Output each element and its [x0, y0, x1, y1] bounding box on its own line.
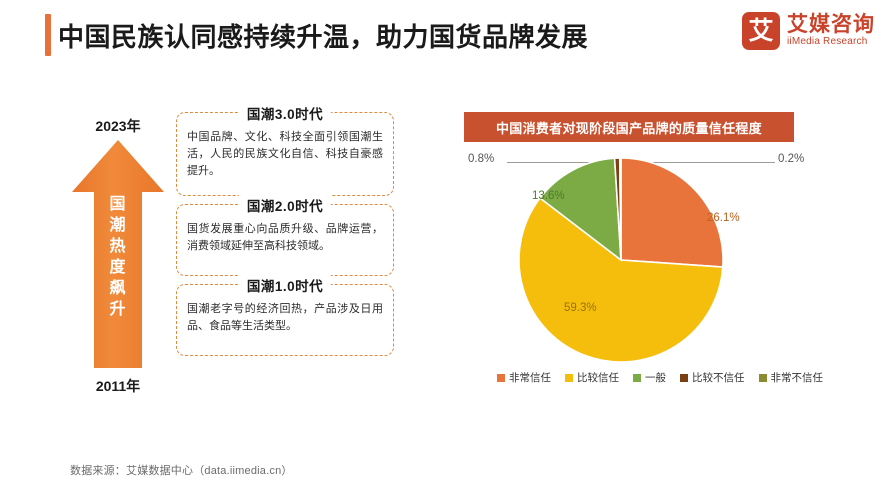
arrow-char-0: 国 — [62, 194, 174, 215]
era-box-1: 国潮1.0时代 国潮老字号的经济回热，产品涉及日用品、食品等生活类型。 — [176, 284, 394, 356]
arrow-char-3: 度 — [62, 257, 174, 278]
chart-title: 中国消费者对现阶段国产品牌的质量信任程度 — [464, 112, 794, 142]
legend-item-4[interactable]: 比较不信任 — [680, 370, 745, 385]
timeline-year-top: 2023年 — [62, 116, 174, 136]
legend-swatch-icon — [633, 374, 641, 382]
era-body: 中国品牌、文化、科技全面引领国潮生活，人民的民族文化自信、科技自豪感提升。 — [187, 129, 383, 180]
pie-label-1: 26.1% — [707, 212, 740, 224]
legend-label: 比较信任 — [577, 370, 619, 385]
legend-swatch-icon — [680, 374, 688, 382]
era-title: 国潮3.0时代 — [239, 103, 331, 123]
pie-plot-area: 0.8% 0.2% 13.6% 26.1% 59.3% — [460, 150, 860, 365]
pie-label-4: 0.8% — [468, 153, 494, 165]
brand-logo: 艾 艾媒咨询 iiMedia Research — [742, 12, 875, 50]
era-box-list: 国潮3.0时代 中国品牌、文化、科技全面引领国潮生活，人民的民族文化自信、科技自… — [176, 112, 394, 364]
pie-svg — [478, 150, 798, 365]
legend-swatch-icon — [497, 374, 505, 382]
era-title: 国潮2.0时代 — [239, 195, 331, 215]
slide-canvas: 中国民族认同感持续升温，助力国货品牌发展 艾 艾媒咨询 iiMedia Rese… — [0, 0, 889, 500]
arrow-char-1: 潮 — [62, 215, 174, 236]
pie-label-3: 13.6% — [532, 190, 565, 202]
logo-name-en: iiMedia Research — [787, 36, 875, 48]
legend-label: 比较不信任 — [692, 370, 745, 385]
era-box-3: 国潮3.0时代 中国品牌、文化、科技全面引领国潮生活，人民的民族文化自信、科技自… — [176, 112, 394, 196]
title-accent-bar — [45, 14, 51, 56]
arrow-char-5: 升 — [62, 299, 174, 320]
arrow-char-4: 飙 — [62, 278, 174, 299]
pie-chart-block: 中国消费者对现阶段国产品牌的质量信任程度 0.8% 0.2% 13.6% 26.… — [460, 112, 860, 402]
legend-label: 非常信任 — [509, 370, 551, 385]
legend-swatch-icon — [565, 374, 573, 382]
chart-legend: 非常信任比较信任一般比较不信任非常不信任 — [460, 370, 860, 385]
legend-label: 一般 — [645, 370, 666, 385]
legend-item-2[interactable]: 比较信任 — [565, 370, 619, 385]
header: 中国民族认同感持续升温，助力国货品牌发展 艾 艾媒咨询 iiMedia Rese… — [0, 0, 889, 68]
legend-swatch-icon — [759, 374, 767, 382]
pie-label-2: 59.3% — [564, 302, 597, 314]
timeline-arrow-block: 2023年 国 潮 热 度 飙 升 2011年 — [62, 116, 174, 396]
era-body: 国潮老字号的经济回热，产品涉及日用品、食品等生活类型。 — [187, 301, 383, 335]
legend-label: 非常不信任 — [771, 370, 824, 385]
era-body: 国货发展重心向品质升级、品牌运营，消费领域延伸至高科技领域。 — [187, 221, 383, 255]
logo-mark-icon: 艾 — [742, 12, 780, 50]
source-note: 数据来源：艾媒数据中心（data.iimedia.cn） — [70, 462, 293, 478]
pie-label-5: 0.2% — [778, 153, 804, 165]
arrow-vertical-label: 国 潮 热 度 飙 升 — [62, 194, 174, 320]
arrow-char-2: 热 — [62, 236, 174, 257]
legend-item-1[interactable]: 非常信任 — [497, 370, 551, 385]
timeline-year-bottom: 2011年 — [62, 376, 174, 396]
page-title: 中国民族认同感持续升温，助力国货品牌发展 — [58, 17, 588, 54]
legend-item-5[interactable]: 非常不信任 — [759, 370, 824, 385]
legend-item-3[interactable]: 一般 — [633, 370, 666, 385]
logo-name-cn: 艾媒咨询 — [787, 14, 875, 36]
logo-text: 艾媒咨询 iiMedia Research — [787, 14, 875, 48]
era-title: 国潮1.0时代 — [239, 275, 331, 295]
era-box-2: 国潮2.0时代 国货发展重心向品质升级、品牌运营，消费领域延伸至高科技领域。 — [176, 204, 394, 276]
